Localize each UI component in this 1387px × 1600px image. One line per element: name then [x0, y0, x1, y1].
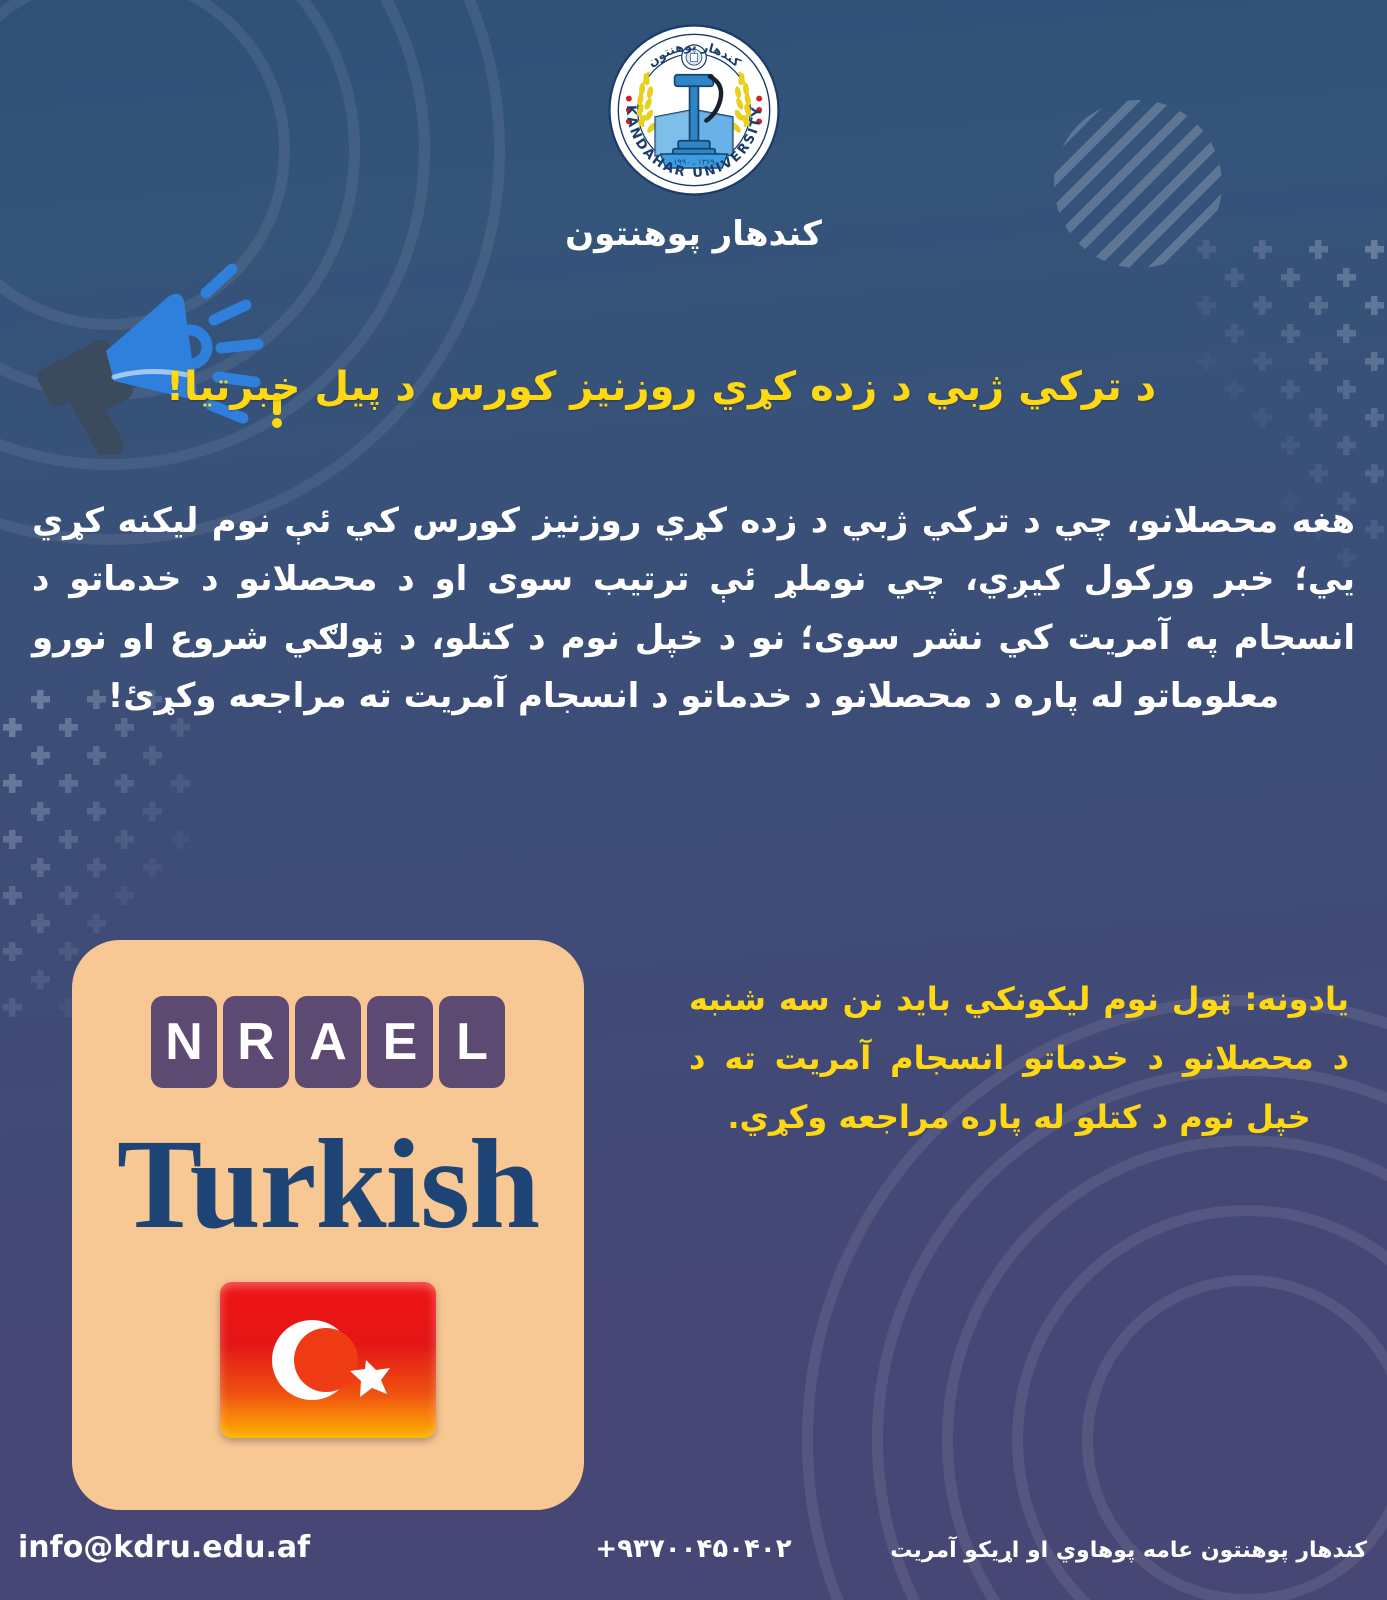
flag-crescent-star	[220, 1282, 436, 1438]
megaphone-icon	[18, 255, 283, 455]
kandahar-university-logo: ۱۳۶۹ ـ ۱۹۹۰ کندهار پوهنتون KANDAHAR UNIV…	[606, 22, 782, 198]
university-seal-icon: ۱۳۶۹ ـ ۱۹۹۰ کندهار پوهنتون KANDAHAR UNIV…	[606, 22, 782, 198]
cross-shape-icon	[3, 942, 22, 961]
poster-header: ۱۳۶۹ ـ ۱۹۹۰ کندهار پوهنتون KANDAHAR UNIV…	[0, 22, 1387, 254]
cross-shape-icon	[115, 774, 134, 793]
cross-shape-icon	[1281, 436, 1300, 455]
cross-shape-icon	[3, 998, 22, 1017]
page-title: د ترکي ژبي د زده کړي روزنیز کورس د پیل خ…	[55, 362, 1267, 412]
cross-shape-icon	[87, 746, 106, 765]
turkey-flag-icon	[220, 1282, 436, 1438]
cross-shape-icon	[87, 914, 106, 933]
cross-shape-icon	[31, 802, 50, 821]
cross-shape-icon	[1225, 268, 1244, 287]
letter-tile: L	[439, 996, 505, 1088]
cross-shape-icon	[3, 886, 22, 905]
note-text: یادونه: ټول نوم لیکونکي باید نن سه شنبه …	[689, 970, 1349, 1148]
cross-shape-icon	[115, 830, 134, 849]
cross-shape-icon	[31, 914, 50, 933]
poster-footer: info@kdru.edu.af +۹۳۷۰۰۴۵۰۴۰۲ کندهار پوه…	[0, 1530, 1387, 1574]
cross-shape-icon	[1281, 380, 1300, 399]
cross-shape-icon	[1309, 464, 1328, 483]
cross-shape-icon	[115, 886, 134, 905]
poster-root: ۱۳۶۹ ـ ۱۹۹۰ کندهار پوهنتون KANDAHAR UNIV…	[0, 0, 1387, 1600]
letter-tile: E	[367, 996, 433, 1088]
cross-shape-icon	[1253, 296, 1272, 315]
cross-shape-icon	[1281, 324, 1300, 343]
letter-tile: R	[223, 996, 289, 1088]
cross-shape-icon	[59, 774, 78, 793]
learn-turkish-card: L E A R N Turkish	[72, 940, 584, 1510]
cross-shape-icon	[59, 942, 78, 961]
cross-shape-icon	[1365, 352, 1384, 371]
cross-shape-icon	[3, 774, 22, 793]
cross-shape-icon	[1365, 296, 1384, 315]
cross-shape-icon	[171, 774, 190, 793]
cross-shape-icon	[59, 886, 78, 905]
department-label: کندهار پوهنتون عامه پوهاوي او اړیکو آمری…	[890, 1538, 1367, 1563]
announcement-body: هغه محصلانو، چي د ترکي ژبي د زده کړي روز…	[32, 492, 1355, 726]
cross-shape-icon	[171, 830, 190, 849]
cross-shape-icon	[1365, 464, 1384, 483]
letter-tile: N	[151, 996, 217, 1088]
cross-shape-icon	[1309, 296, 1328, 315]
cross-shape-icon	[31, 970, 50, 989]
cross-shape-icon	[1309, 352, 1328, 371]
cross-shape-icon	[87, 858, 106, 877]
cross-shape-icon	[59, 830, 78, 849]
language-name-label: Turkish	[117, 1120, 539, 1248]
letter-tile: A	[295, 996, 361, 1088]
cross-shape-icon	[1337, 268, 1356, 287]
cross-shape-icon	[143, 858, 162, 877]
university-name-label: کندهار پوهنتون	[0, 214, 1387, 254]
cross-shape-icon	[3, 718, 22, 737]
cross-shape-icon	[3, 830, 22, 849]
learn-letter-tiles: L E A R N	[151, 996, 505, 1088]
cross-shape-icon	[31, 746, 50, 765]
cross-shape-icon	[1225, 324, 1244, 343]
cross-shape-icon	[87, 802, 106, 821]
cross-shape-icon	[143, 746, 162, 765]
cross-shape-icon	[1281, 268, 1300, 287]
cross-shape-icon	[1337, 380, 1356, 399]
cross-shape-icon	[31, 858, 50, 877]
cross-shape-icon	[1365, 520, 1384, 539]
cross-shape-icon	[1309, 408, 1328, 427]
cross-shape-icon	[1337, 436, 1356, 455]
cross-shape-icon	[143, 802, 162, 821]
cross-shape-icon	[1337, 324, 1356, 343]
cross-shape-icon	[1197, 296, 1216, 315]
cross-shape-icon	[1365, 408, 1384, 427]
